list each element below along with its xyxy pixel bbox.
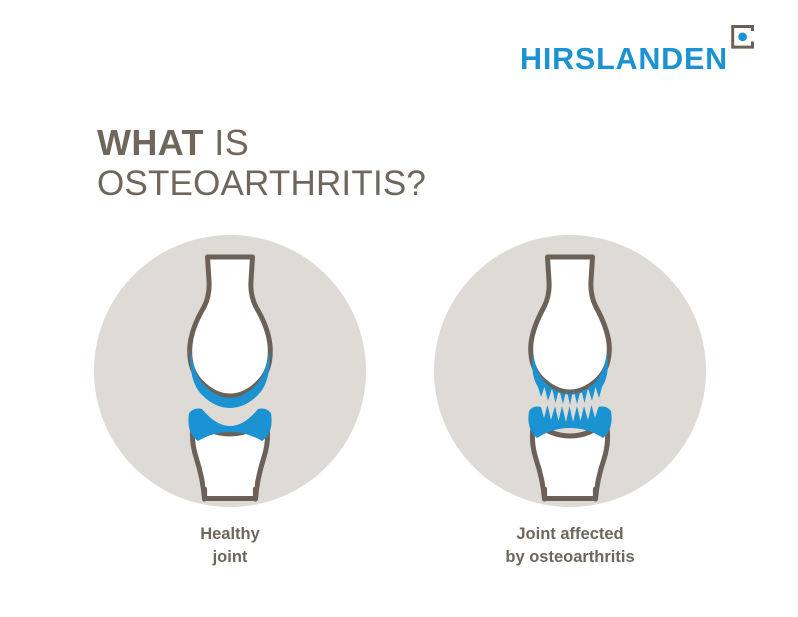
page-title-line-1: WHAT IS [97,122,426,164]
joint-caption-line-2: joint [94,546,366,569]
joint-caption-line-2: by osteoarthritis [434,546,706,569]
joint-panel-affected: Joint affected by osteoarthritis [434,235,706,575]
frame-dot-logo-icon [728,22,758,52]
healthy-knee-joint-icon [94,235,366,507]
page-title-word-what: WHAT [97,122,204,163]
hirslanden-logo: HIRSLANDEN [520,18,770,76]
page-title-word-is: IS [204,122,249,163]
page-title-line-2: OSTEOARTHRITIS? [97,164,426,205]
osteoarthritic-knee-joint-icon [434,235,706,507]
joint-caption-healthy: Healthy joint [94,523,366,569]
joint-caption-affected: Joint affected by osteoarthritis [434,523,706,569]
joint-caption-line-1: Joint affected [434,523,706,546]
page-title: WHAT IS OSTEOARTHRITIS? [97,122,426,205]
joint-panel-healthy: Healthy joint [94,235,366,575]
joint-caption-line-1: Healthy [94,523,366,546]
hirslanden-wordmark: HIRSLANDEN [520,44,728,75]
